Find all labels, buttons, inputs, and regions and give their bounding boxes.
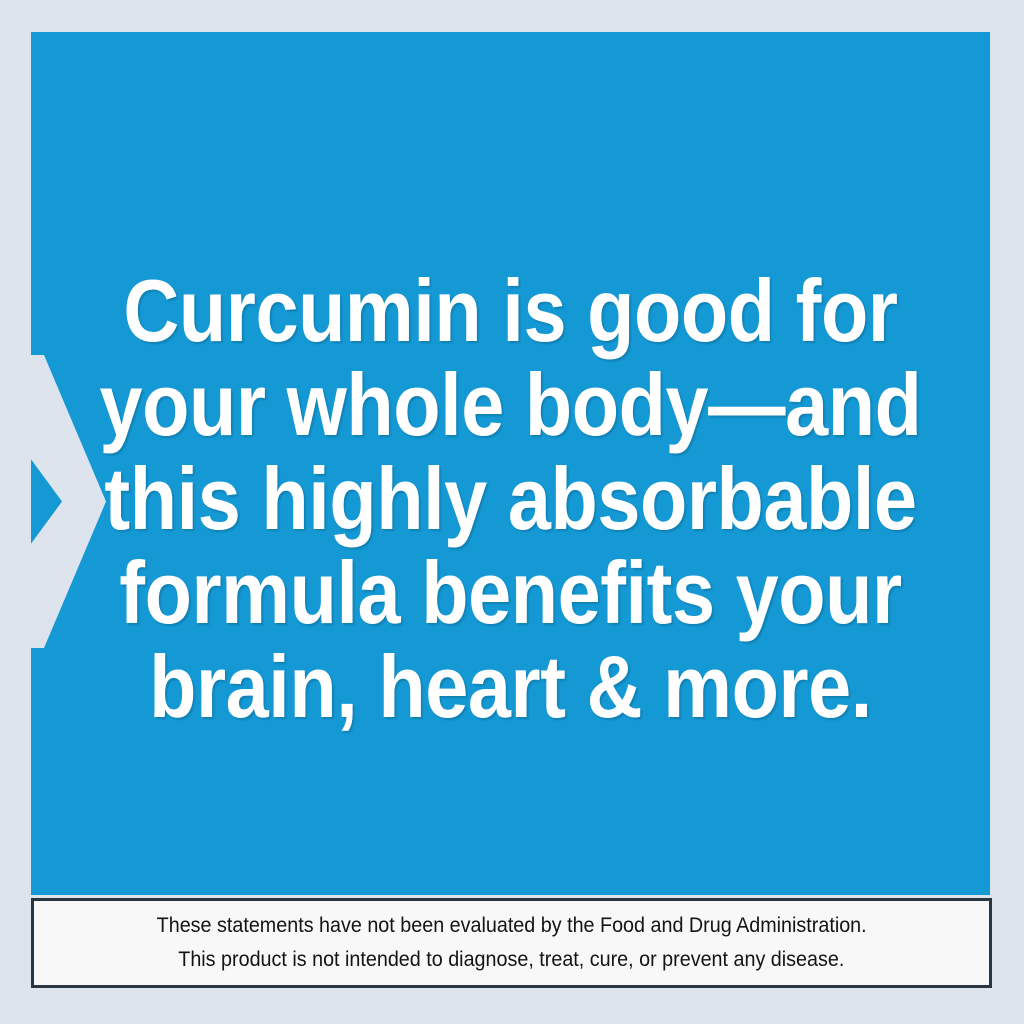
hero-panel: Curcumin is good for your whole body—and… (31, 32, 990, 895)
disclaimer-line-1: These statements have not been evaluated… (157, 909, 867, 943)
headline-line-4: formula benefits your (89, 546, 933, 640)
headline-line-3: this highly absorbable (89, 452, 933, 546)
product-marketing-graphic: Curcumin is good for your whole body—and… (0, 0, 1024, 1024)
headline-line-5: brain, heart & more. (89, 640, 933, 734)
disclaimer-line-2: This product is not intended to diagnose… (178, 943, 844, 977)
headline-line-1: Curcumin is good for (89, 264, 933, 358)
headline-line-2: your whole body—and (89, 358, 933, 452)
fda-disclaimer-box: These statements have not been evaluated… (31, 898, 992, 988)
headline: Curcumin is good for your whole body—and… (89, 264, 933, 734)
